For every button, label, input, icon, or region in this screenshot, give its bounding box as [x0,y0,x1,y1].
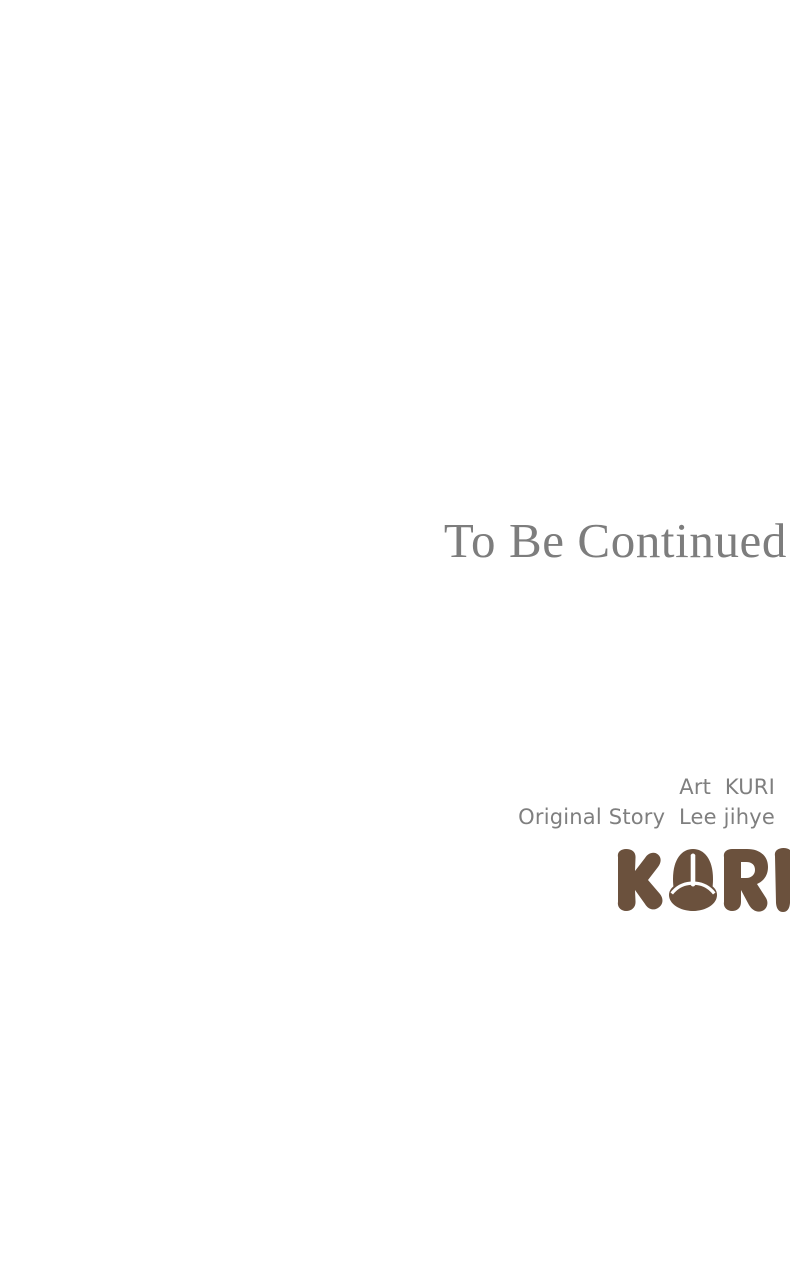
credit-line-art: Art KURI [518,772,775,802]
logo-letter-i [775,848,790,912]
logo-letter-r [724,849,768,912]
credit-line-original-story: Original Story Lee jihye [518,802,775,832]
kuri-logo [612,845,790,915]
comic-ending-page: To Be Continued Art KURI Original Story … [0,0,800,1280]
credits-block: Art KURI Original Story Lee jihye [518,772,775,832]
kuri-logo-svg [612,845,790,915]
kuri-logo-letters [618,848,790,912]
to-be-continued-text: To Be Continued [444,516,787,565]
logo-letter-k [618,849,663,911]
